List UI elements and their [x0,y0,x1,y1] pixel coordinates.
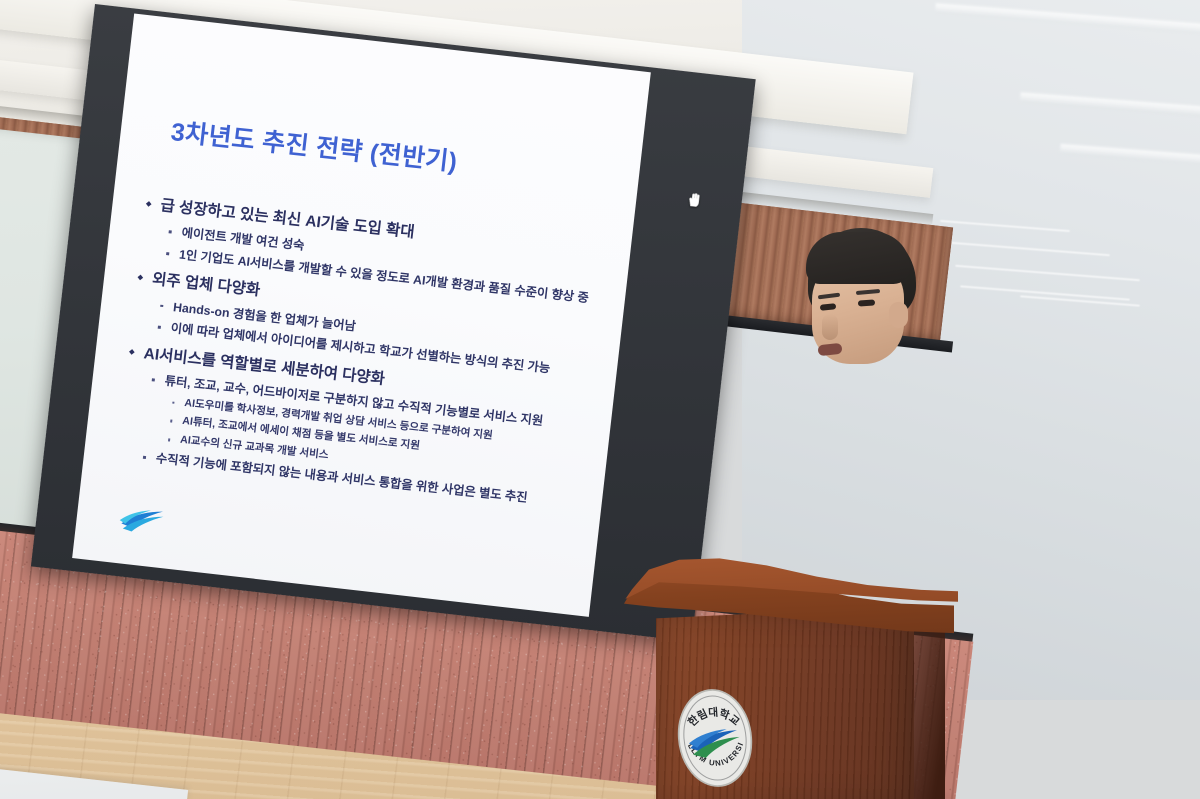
hair-front [806,232,910,284]
nose [822,314,838,340]
slide-title: 3차년도 추진 전략 (전반기) [169,112,459,178]
slide-surface: 3차년도 추진 전략 (전반기) 급 성장하고 있는 최신 AI기술 도입 확대… [72,13,651,616]
hand-cursor-icon [686,190,703,209]
speaker-person [760,218,1060,799]
slide-bullet-list: 급 성장하고 있는 최신 AI기술 도입 확대 에이전트 개발 여건 성숙 1인… [109,193,617,517]
eye-right [858,299,875,306]
presentation-photo-scene: 3차년도 추진 전략 (전반기) 급 성장하고 있는 최신 AI기술 도입 확대… [0,0,1200,799]
hallym-university-emblem: 한림대학교 HALLYM UNIVERSITY [668,685,761,790]
hallym-wave-logo-icon [117,501,167,540]
ear [889,302,908,328]
